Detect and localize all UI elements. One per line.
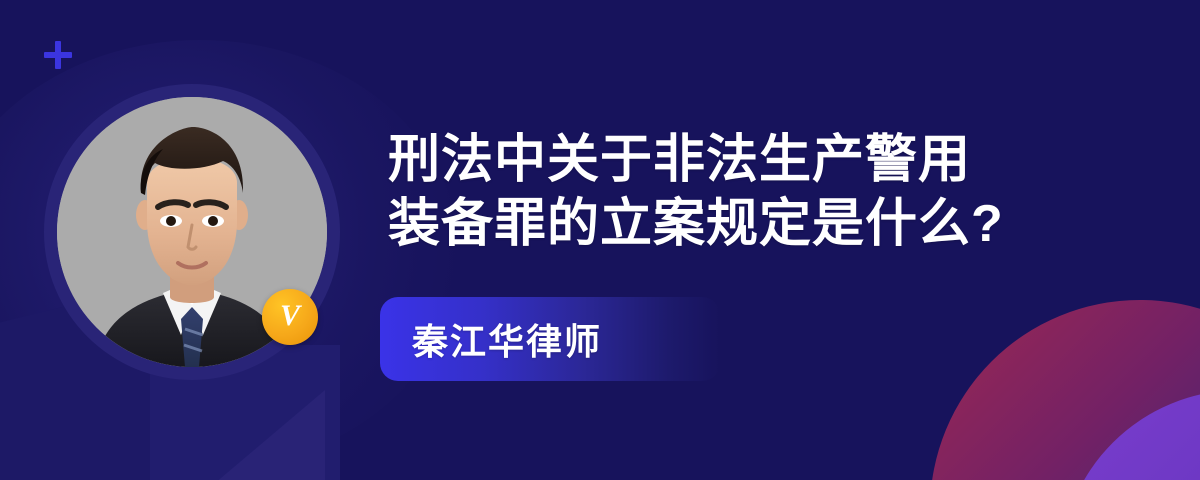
verified-badge-icon: V (262, 289, 318, 345)
avatar: V (57, 97, 327, 367)
headline-block: 刑法中关于非法生产警用 装备罪的立案规定是什么? (388, 128, 1128, 256)
plus-icon (44, 41, 72, 69)
verified-glyph: V (280, 301, 300, 331)
author-name-label: 秦江华律师 (380, 313, 602, 365)
qa-banner: V 刑法中关于非法生产警用 装备罪的立案规定是什么? 秦江华律师 (0, 0, 1200, 480)
page-title: 刑法中关于非法生产警用 装备罪的立案规定是什么? (388, 128, 1128, 256)
author-name-badge[interactable]: 秦江华律师 (380, 297, 720, 381)
triangle-shape (195, 390, 325, 480)
